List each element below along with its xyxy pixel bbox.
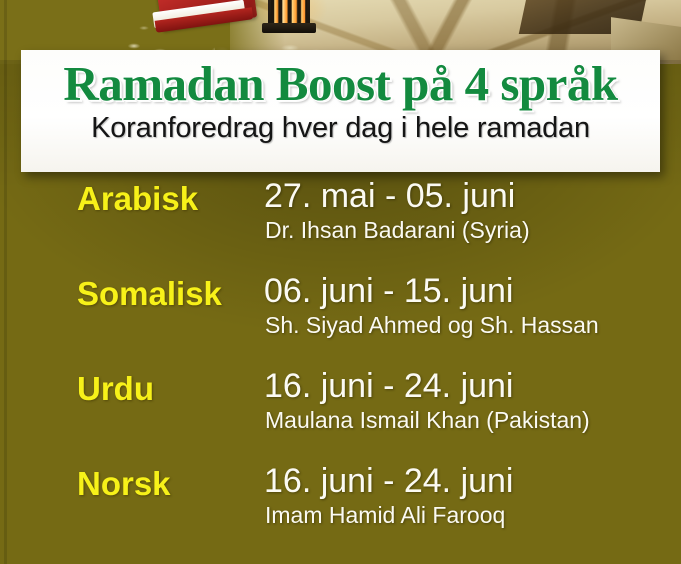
red-book-icon: [153, 0, 257, 38]
speaker-name: Imam Hamid Ali Farooq: [265, 503, 505, 528]
speaker-name: Dr. Ihsan Badarani (Syria): [265, 218, 530, 243]
schedule-row-urdu: Urdu 16. juni - 24. juni Maulana Ismail …: [0, 366, 681, 461]
schedule-row-somalisk: Somalisk 06. juni - 15. juni Sh. Siyad A…: [0, 271, 681, 366]
schedule-row-arabisk: Arabisk 27. mai - 05. juni Dr. Ihsan Bad…: [0, 176, 681, 271]
speaker-name: Maulana Ismail Khan (Pakistan): [265, 408, 590, 433]
schedule-list: Arabisk 27. mai - 05. juni Dr. Ihsan Bad…: [0, 176, 681, 556]
speaker-name: Sh. Siyad Ahmed og Sh. Hassan: [265, 313, 599, 338]
date-range: 16. juni - 24. juni: [264, 463, 514, 499]
language-label: Arabisk: [77, 182, 198, 215]
language-label: Urdu: [77, 372, 154, 405]
schedule-row-norsk: Norsk 16. juni - 24. juni Imam Hamid Ali…: [0, 461, 681, 556]
page-subtitle: Koranforedrag hver dag i hele ramadan: [21, 110, 660, 145]
ramadan-poster: Ramadan Boost på 4 språk Koranforedrag h…: [0, 0, 681, 564]
language-label: Norsk: [77, 467, 171, 500]
ramadan-lantern-icon: [258, 0, 320, 44]
date-range: 16. juni - 24. juni: [264, 368, 514, 404]
lantern-flame: [271, 0, 307, 23]
date-range: 27. mai - 05. juni: [264, 178, 515, 214]
page-title: Ramadan Boost på 4 språk: [21, 50, 660, 110]
date-range: 06. juni - 15. juni: [264, 273, 514, 309]
language-label: Somalisk: [77, 277, 222, 310]
headline-banner: Ramadan Boost på 4 språk Koranforedrag h…: [21, 50, 660, 172]
lantern-base: [262, 23, 316, 33]
